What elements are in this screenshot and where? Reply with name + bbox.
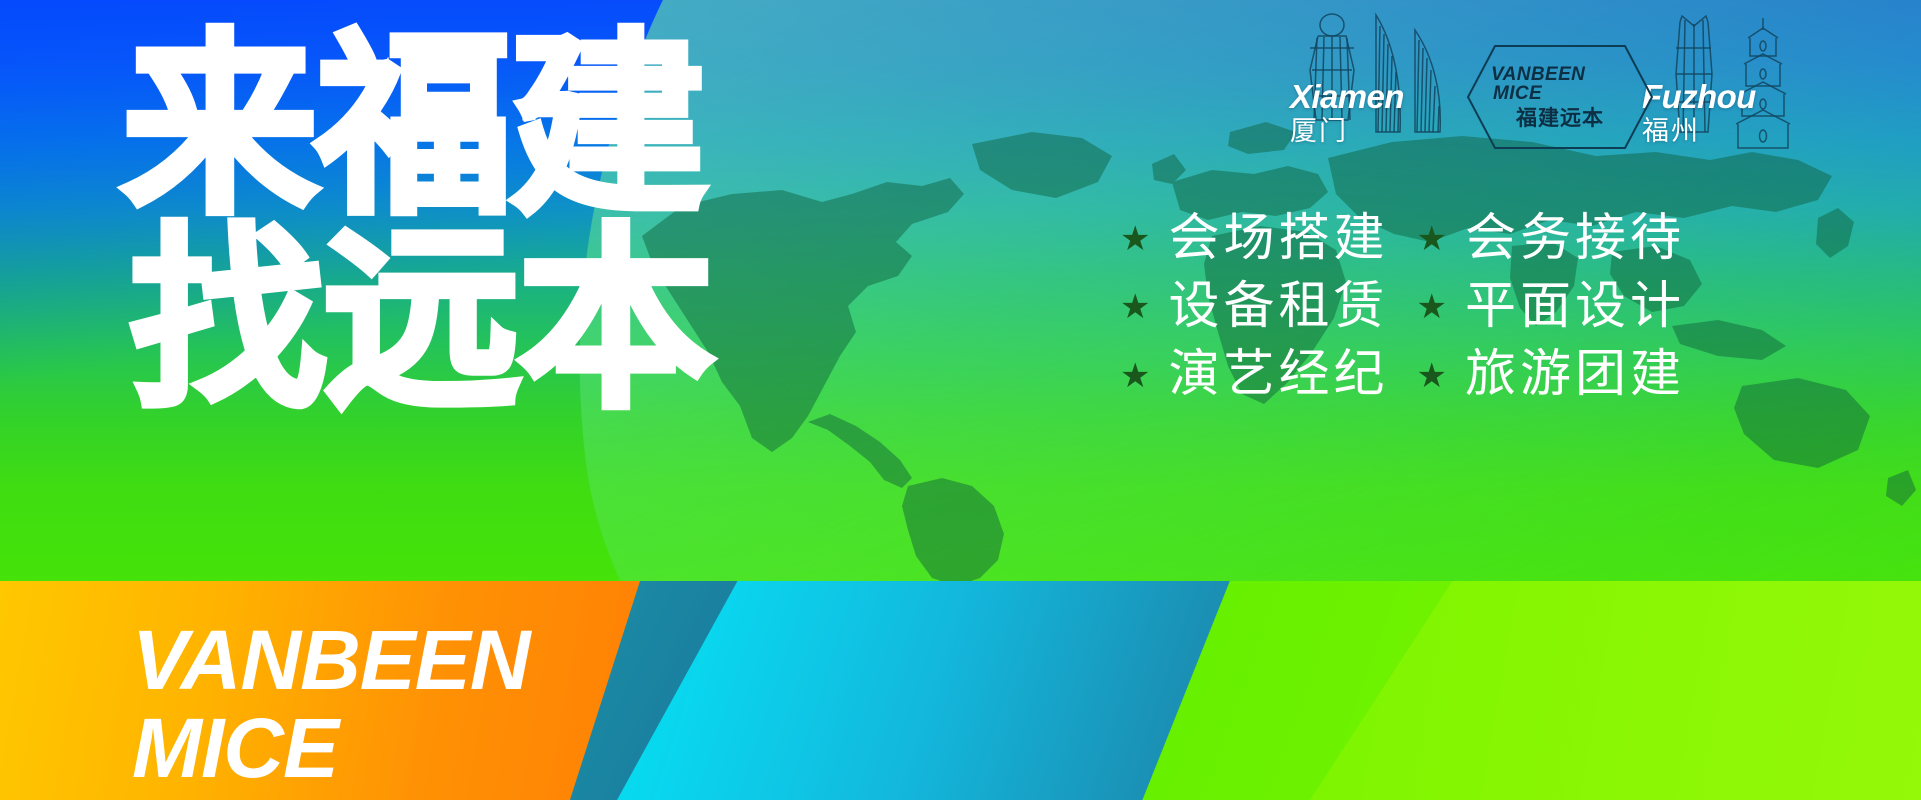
star-icon: ★ bbox=[1120, 222, 1150, 256]
star-icon: ★ bbox=[1417, 359, 1447, 393]
vanbeen-hexagon-badge: VANBEEN MICE 福建远本 bbox=[1465, 43, 1655, 151]
service-item-1: ★ 会务接待 bbox=[1417, 208, 1686, 270]
service-label: 设备租赁 bbox=[1168, 276, 1388, 338]
service-list: ★ 会场搭建 ★ 会务接待 ★ 设备租赁 ★ 平面设计 ★ 演艺经纪 ★ 旅游团… bbox=[1120, 208, 1685, 407]
footer-brand-logo: VANBEEN MICE bbox=[132, 619, 530, 790]
service-item-3: ★ 平面设计 bbox=[1417, 276, 1686, 338]
star-icon: ★ bbox=[1417, 290, 1447, 324]
service-label: 平面设计 bbox=[1465, 276, 1685, 338]
star-icon: ★ bbox=[1417, 222, 1447, 256]
star-icon: ★ bbox=[1120, 290, 1150, 324]
page-title: 来福建 找远本 bbox=[122, 36, 712, 413]
city-label-fuzhou: Fuzhou 福州 bbox=[1642, 80, 1756, 147]
city-fuzhou-en: Fuzhou bbox=[1642, 80, 1756, 113]
badge-brand-line-2: MICE bbox=[1493, 84, 1542, 104]
service-label: 会务接待 bbox=[1465, 208, 1685, 270]
city-xiamen-zh: 厦门 bbox=[1290, 116, 1404, 147]
city-fuzhou-zh: 福州 bbox=[1642, 116, 1756, 147]
footer-logo-line-1: VANBEEN bbox=[132, 619, 530, 701]
city-landmark-cluster: Xiamen 厦门 Fuzhou 福州 VANBEEN MICE 福建远本 bbox=[1290, 8, 1910, 178]
service-item-4: ★ 演艺经纪 bbox=[1120, 344, 1389, 406]
headline-line-2: 找远本 bbox=[130, 230, 712, 412]
city-xiamen-en: Xiamen bbox=[1290, 80, 1404, 113]
service-label: 旅游团建 bbox=[1465, 344, 1685, 406]
footer-logo-line-2: MICE bbox=[132, 707, 530, 789]
service-item-5: ★ 旅游团建 bbox=[1417, 344, 1686, 406]
headline-line-1: 来福建 bbox=[122, 36, 712, 218]
xiamen-sail-tower-2-icon bbox=[1415, 30, 1440, 132]
city-label-xiamen: Xiamen 厦门 bbox=[1290, 80, 1404, 147]
star-icon: ★ bbox=[1120, 359, 1150, 393]
hero-background: 来福建 找远本 bbox=[0, 0, 1921, 581]
service-label: 会场搭建 bbox=[1168, 208, 1388, 270]
promo-banner: 来福建 找远本 bbox=[0, 0, 1921, 800]
badge-brand-line-1: VANBEEN bbox=[1491, 65, 1585, 85]
service-item-0: ★ 会场搭建 bbox=[1120, 208, 1389, 270]
footer-stripe-bar: VANBEEN MICE bbox=[0, 581, 1921, 800]
service-label: 演艺经纪 bbox=[1168, 344, 1388, 406]
service-item-2: ★ 设备租赁 bbox=[1120, 276, 1389, 338]
badge-brand-zh: 福建远本 bbox=[1516, 108, 1604, 130]
